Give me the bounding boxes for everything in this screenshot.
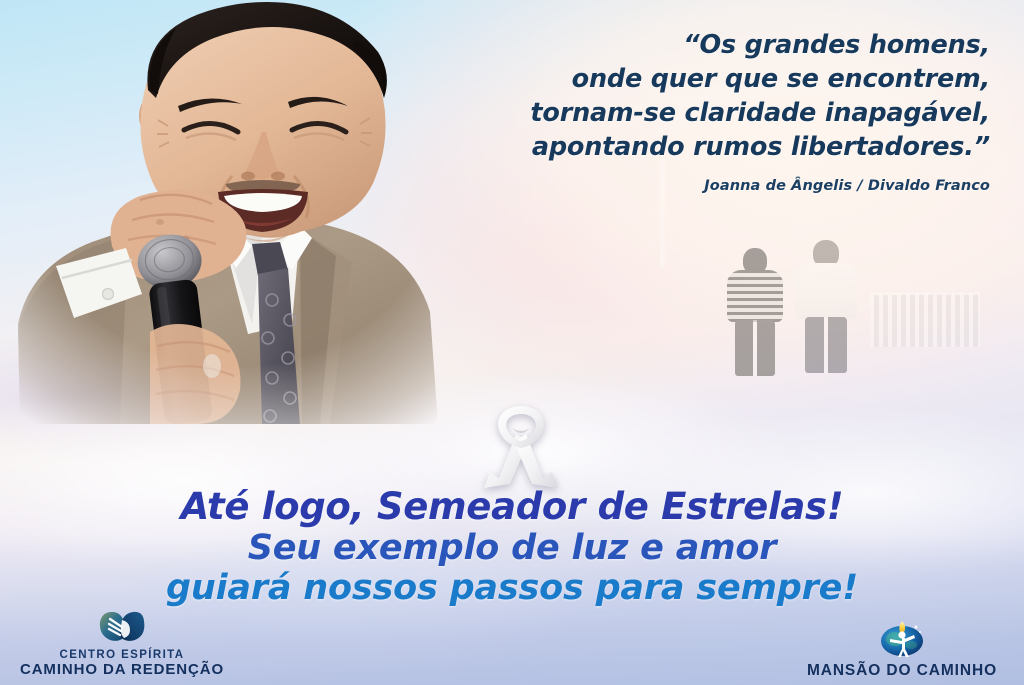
logo-mansao-do-caminho: MANSÃO DO CAMINHO bbox=[792, 615, 1012, 679]
logo-left-text: CENTRO ESPÍRITA CAMINHO DA REDENÇÃO bbox=[20, 649, 224, 679]
quote-block: “Os grandes homens, onde quer que se enc… bbox=[430, 28, 990, 194]
portrait-photo bbox=[0, 0, 470, 424]
message-line-2: Seu exemplo de luz e amor bbox=[0, 528, 1024, 568]
logo-right-line-1: MANSÃO DO CAMINHO bbox=[807, 662, 997, 679]
quote-line-4: apontando rumos libertadores.” bbox=[430, 130, 990, 164]
message-line-3: guiará nossos passos para sempre! bbox=[0, 568, 1024, 608]
logo-right-text: MANSÃO DO CAMINHO bbox=[807, 662, 997, 679]
quote-attribution: Joanna de Ângelis / Divaldo Franco bbox=[430, 178, 990, 194]
memorial-tribute-poster: “Os grandes homens, onde quer que se enc… bbox=[0, 0, 1024, 685]
message-line-1: Até logo, Semeador de Estrelas! bbox=[0, 486, 1024, 528]
globe-figure-flame-icon bbox=[878, 615, 926, 659]
quote-line-2: onde quer que se encontrem, bbox=[430, 62, 990, 96]
logo-left-line-2: CAMINHO DA REDENÇÃO bbox=[20, 662, 224, 679]
message-block: Até logo, Semeador de Estrelas! Seu exem… bbox=[0, 486, 1024, 608]
quote-line-3: tornam-se claridade inapagável, bbox=[430, 96, 990, 130]
logo-centro-espirita-caminho-da-redencao: CENTRO ESPÍRITA CAMINHO DA REDENÇÃO bbox=[12, 606, 232, 679]
hands-heart-icon bbox=[96, 606, 148, 646]
white-ribbon-icon bbox=[482, 404, 560, 490]
quote-line-1: “Os grandes homens, bbox=[430, 28, 990, 62]
